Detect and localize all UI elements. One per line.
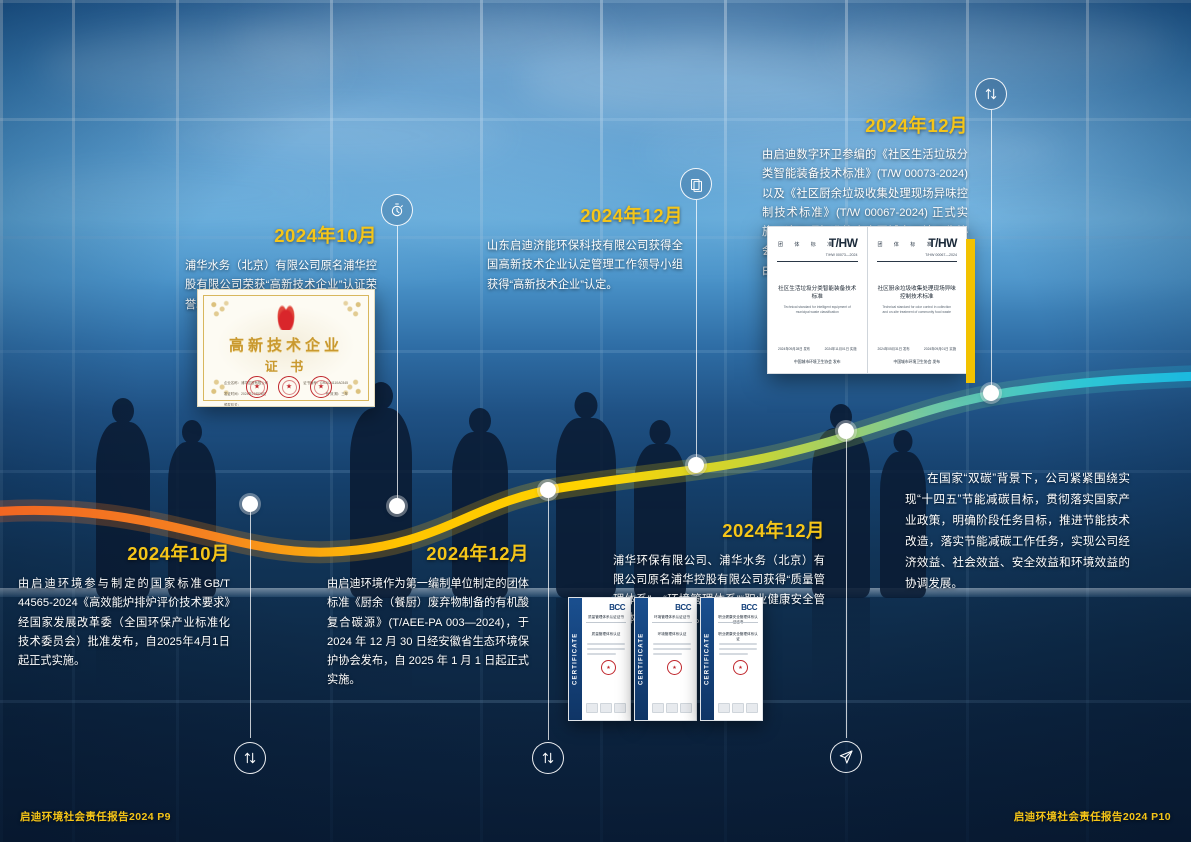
report-page: 2024年10月 浦华水务（北京）有限公司原名浦华控股有限公司荣获“高新技术企业… bbox=[0, 0, 1191, 842]
event-text: 山东启迪济能环保科技有限公司获得全国高新技术企业认定管理工作领导小组获得“高新技… bbox=[487, 237, 683, 295]
yellow-accent-bar bbox=[966, 239, 975, 383]
accreditation-logos bbox=[718, 701, 758, 714]
timeline-stem-thw-standards bbox=[991, 110, 992, 393]
iso-certificate: CERTIFICATE BCC 环境管理体系认证证书 环境管理体系认证 ★ bbox=[634, 597, 697, 721]
certificate-side-label: CERTIFICATE bbox=[701, 598, 714, 720]
standard-title-en: Technical standard for odor control in c… bbox=[882, 305, 953, 315]
certificate-stamp: ★ bbox=[601, 660, 616, 675]
event-date: 2024年12月 bbox=[613, 517, 825, 543]
certificate-subcaption: 职业健康安全管理体系认证 bbox=[718, 632, 758, 642]
standard-issue-date: 2024年05月31日 发布 bbox=[878, 346, 910, 351]
certificate-stamp: ★ bbox=[667, 660, 682, 675]
standard-code: T/HW 00067—2024 bbox=[925, 253, 957, 257]
certificate-seal: ★ bbox=[310, 376, 332, 398]
documents-icon bbox=[680, 168, 712, 200]
event-date: 2024年12月 bbox=[327, 540, 529, 566]
send-icon bbox=[830, 741, 862, 773]
event-block-hitech-shandong: 2024年12月 山东启迪济能环保科技有限公司获得全国高新技术企业认定管理工作领… bbox=[487, 202, 683, 295]
event-text: 由启迪环境作为第一编制单位制定的团体标准《厨余（餐厨）废弃物制备的有机酸复合碳源… bbox=[327, 575, 529, 691]
standard-issue-date: 2024年09月28日 发布 bbox=[778, 346, 810, 351]
certificate-subcaption: 质量管理体系认证 bbox=[586, 632, 626, 637]
event-date: 2024年10月 bbox=[185, 222, 377, 248]
certificate-field: 颁发机关： bbox=[224, 402, 241, 407]
standard-booklet: T/HW 团 体 标 准 T/HW 00067—2024 社区厨余垃圾收集处理现… bbox=[867, 227, 967, 373]
timeline-stem-iso-certificates bbox=[846, 431, 847, 738]
exchange-arrows-icon bbox=[975, 78, 1007, 110]
standard-code: T/HW 00073—2024 bbox=[826, 253, 858, 257]
dual-carbon-summary-block: 在国家“双碳”背景下，公司紧紧围绕实现“十四五”节能减碳目标，贯彻落实国家产业政… bbox=[905, 468, 1130, 595]
standard-label: 团 体 标 准 bbox=[778, 241, 837, 248]
event-block-anhui-standard: 2024年12月 由启迪环境作为第一编制单位制定的团体标准《厨余（餐厨）废弃物制… bbox=[327, 540, 529, 691]
event-text: 由启迪环境参与制定的国家标准GB/T 44565-2024《高效能炉排炉评价技术… bbox=[18, 575, 230, 671]
timeline-stem-gb-standard bbox=[250, 504, 251, 738]
standard-booklet: T/HW 团 体 标 准 T/HW 00073—2024 社区生活垃圾分类智能装… bbox=[768, 227, 867, 373]
iso-certificate: CERTIFICATE BCC 质量管理体系认证证书 质量管理体系认证 ★ bbox=[568, 597, 631, 721]
certifier-logo: BCC bbox=[675, 603, 691, 612]
event-date: 2024年10月 bbox=[18, 540, 230, 566]
iso-certificates-image: CERTIFICATE BCC 质量管理体系认证证书 质量管理体系认证 ★ CE… bbox=[568, 597, 763, 721]
standard-effective-date: 2024年09月01日 实施 bbox=[924, 346, 956, 351]
summary-text: 在国家“双碳”背景下，公司紧紧围绕实现“十四五”节能减碳目标，贯彻落实国家产业政… bbox=[905, 468, 1130, 595]
event-date: 2024年12月 bbox=[487, 202, 683, 228]
accreditation-logos bbox=[652, 701, 692, 714]
certificate-caption: 职业健康安全管理体系认证证书 bbox=[718, 615, 758, 625]
certificate-seal: ★ bbox=[246, 376, 268, 398]
certificate-caption: 质量管理体系认证证书 bbox=[586, 615, 626, 620]
certificate-title: 高新技术企业 bbox=[198, 334, 374, 355]
footer-left: 启迪环境社会责任报告2024 P9 bbox=[20, 809, 171, 824]
flame-emblem-icon bbox=[274, 304, 298, 330]
certificate-subcaption: 环境管理体系认证 bbox=[652, 632, 692, 637]
certifier-logo: BCC bbox=[609, 603, 625, 612]
exchange-arrows-icon bbox=[234, 742, 266, 774]
standard-publisher: 中国城市环境卫生协会 发布 bbox=[768, 360, 867, 365]
timeline-stem-hitech-shandong bbox=[696, 200, 697, 465]
accreditation-logos bbox=[586, 701, 626, 714]
iso-certificate: CERTIFICATE BCC 职业健康安全管理体系认证证书 职业健康安全管理体… bbox=[700, 597, 763, 721]
standard-publisher: 中国城市环境卫生协会 发布 bbox=[868, 360, 967, 365]
standards-booklets-image: T/HW 团 体 标 准 T/HW 00073—2024 社区生活垃圾分类智能装… bbox=[767, 226, 967, 374]
stopwatch-icon bbox=[381, 194, 413, 226]
exchange-arrows-icon bbox=[532, 742, 564, 774]
standard-title-en: Technical standard for intelligent equip… bbox=[782, 305, 853, 315]
certificate-side-label: CERTIFICATE bbox=[569, 598, 582, 720]
certifier-logo: BCC bbox=[741, 603, 757, 612]
footer-right: 启迪环境社会责任报告2024 P10 bbox=[1014, 809, 1171, 824]
certificate-subtitle: 证 书 bbox=[198, 356, 374, 375]
event-date: 2024年12月 bbox=[762, 112, 968, 138]
standard-label: 团 体 标 准 bbox=[878, 241, 937, 248]
event-block-gb-standard: 2024年10月 由启迪环境参与制定的国家标准GB/T 44565-2024《高… bbox=[18, 540, 230, 671]
standard-effective-date: 2024年11月01日 实施 bbox=[825, 346, 857, 351]
certificate-side-label: CERTIFICATE bbox=[635, 598, 648, 720]
certificate-seal: ★ bbox=[278, 376, 300, 398]
standard-title: 社区厨余垃圾收集处理现场异味控制技术标准 bbox=[878, 285, 957, 302]
certificate-stamp: ★ bbox=[733, 660, 748, 675]
timeline-stem-anhui-standard bbox=[548, 490, 549, 740]
certificate-caption: 环境管理体系认证证书 bbox=[652, 615, 692, 620]
hi-tech-certificate-image: 高新技术企业 证 书 企业名称：浦华控股有限公司 发证时间：2024年10月28… bbox=[197, 289, 375, 407]
timeline-stem-hitech-pohua bbox=[397, 226, 398, 506]
standard-title: 社区生活垃圾分类智能装备技术标准 bbox=[778, 285, 857, 302]
